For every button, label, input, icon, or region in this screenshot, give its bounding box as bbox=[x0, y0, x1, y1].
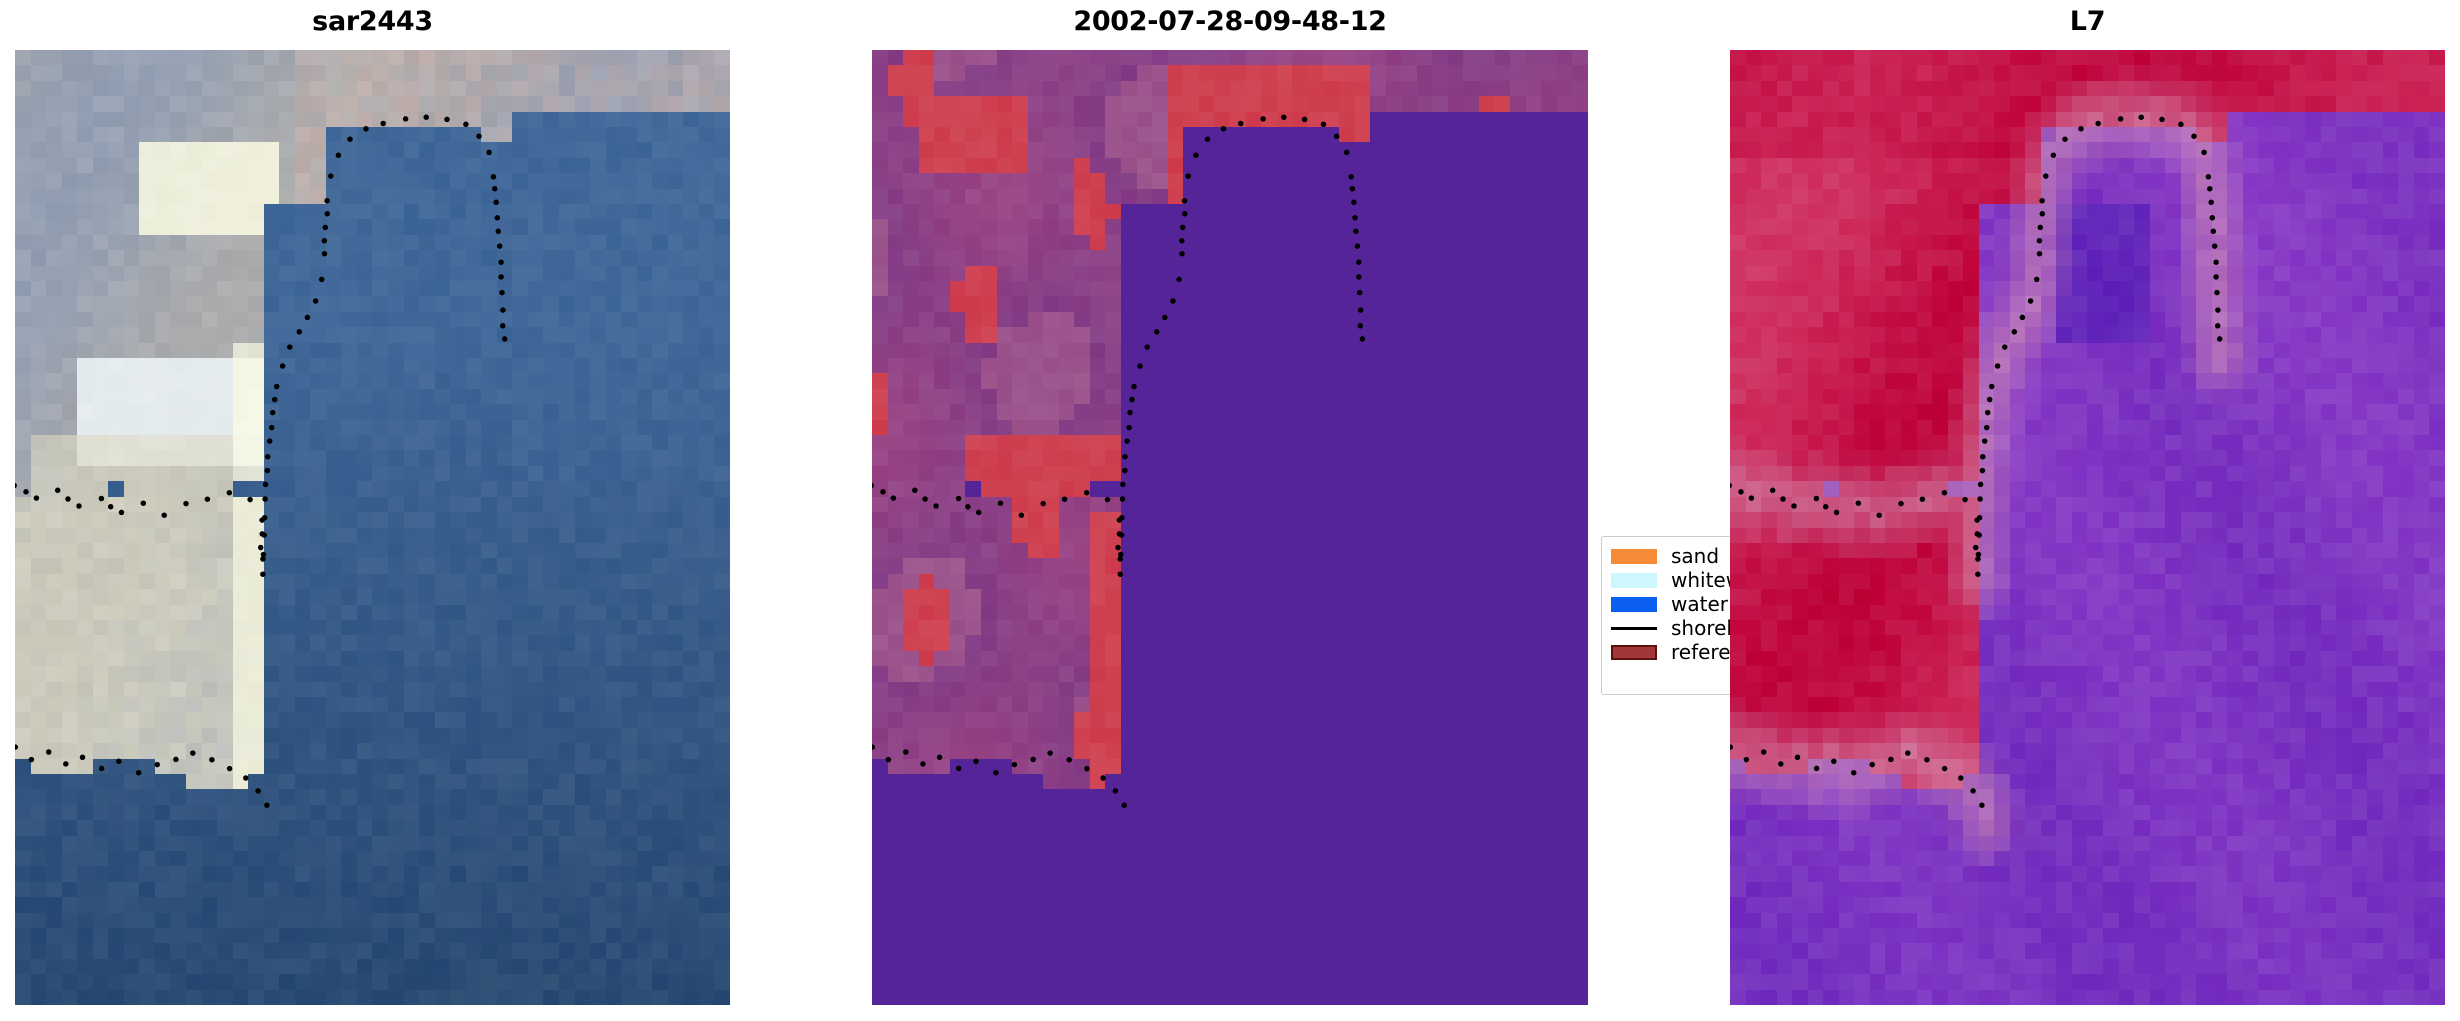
panel-l7-image[interactable] bbox=[1730, 50, 2445, 1005]
sar-raster bbox=[15, 50, 730, 1005]
legend-swatch-water bbox=[1611, 597, 1657, 612]
l7-raster bbox=[1730, 50, 2445, 1005]
figure-canvas: sar2443 2002-07-28-09-48-12 sand whitew … bbox=[0, 0, 2460, 1021]
panel-classified-image[interactable] bbox=[872, 50, 1588, 1005]
panel-sar-image[interactable] bbox=[15, 50, 730, 1005]
panel-title-classified: 2002-07-28-09-48-12 bbox=[872, 8, 1588, 35]
panel-title-l7: L7 bbox=[1730, 8, 2445, 35]
classification-raster bbox=[872, 50, 1588, 1005]
legend-swatch-shoreline bbox=[1611, 627, 1657, 630]
legend-label-shoreline: shoreli bbox=[1671, 618, 1738, 638]
legend-swatch-reference bbox=[1611, 645, 1657, 660]
legend-swatch-sand bbox=[1611, 549, 1657, 564]
legend-label-sand: sand bbox=[1671, 546, 1719, 566]
legend-swatch-whitewater bbox=[1611, 573, 1657, 588]
legend-label-water: water bbox=[1671, 594, 1728, 614]
panel-title-sar: sar2443 bbox=[15, 8, 730, 35]
